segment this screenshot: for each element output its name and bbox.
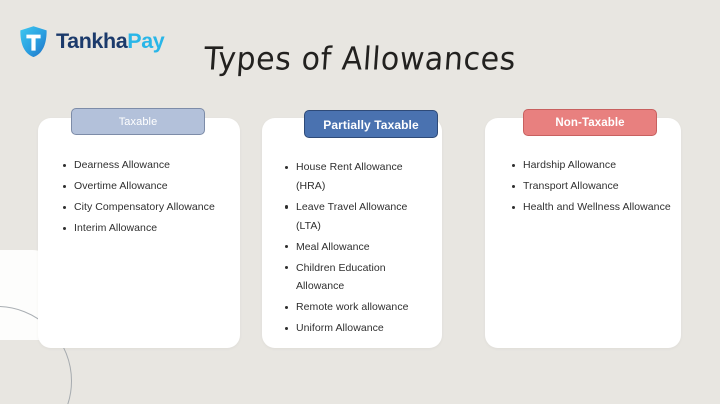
list-item: Health and Wellness Allowance [523, 198, 673, 217]
list-item: Uniform Allowance [296, 319, 434, 338]
slide-canvas: TankhaPay Types of Allowances Taxable De… [0, 0, 720, 404]
list-item: Dearness Allowance [74, 156, 232, 175]
allowance-card-taxable: Taxable Dearness Allowance Overtime Allo… [38, 118, 240, 348]
list-item: Hardship Allowance [523, 156, 673, 175]
badge-non-taxable: Non-Taxable [523, 109, 657, 136]
allowance-card-non-taxable: Non-Taxable Hardship Allowance Transport… [485, 118, 681, 348]
badge-partially-taxable: Partially Taxable [304, 110, 438, 138]
list-item: Interim Allowance [74, 219, 232, 238]
list-item: Remote work allowance [296, 298, 434, 317]
list-item: Leave Travel Allowance (LTA) [296, 198, 434, 236]
badge-taxable: Taxable [71, 108, 205, 135]
list-item: Meal Allowance [296, 238, 434, 257]
list-item: City Compensatory Allowance [74, 198, 232, 217]
allowance-list-partially-taxable: House Rent Allowance (HRA) Leave Travel … [276, 158, 434, 340]
list-item: Transport Allowance [523, 177, 673, 196]
allowance-list-taxable: Dearness Allowance Overtime Allowance Ci… [54, 156, 232, 240]
list-item: Overtime Allowance [74, 177, 232, 196]
list-item: House Rent Allowance (HRA) [296, 158, 434, 196]
allowance-list-non-taxable: Hardship Allowance Transport Allowance H… [503, 156, 673, 219]
list-item: Children Education Allowance [296, 259, 434, 297]
page-title: Types of Allowances [0, 41, 720, 78]
allowance-card-partially-taxable: Partially Taxable House Rent Allowance (… [262, 118, 442, 348]
allowance-columns: Taxable Dearness Allowance Overtime Allo… [0, 118, 720, 350]
